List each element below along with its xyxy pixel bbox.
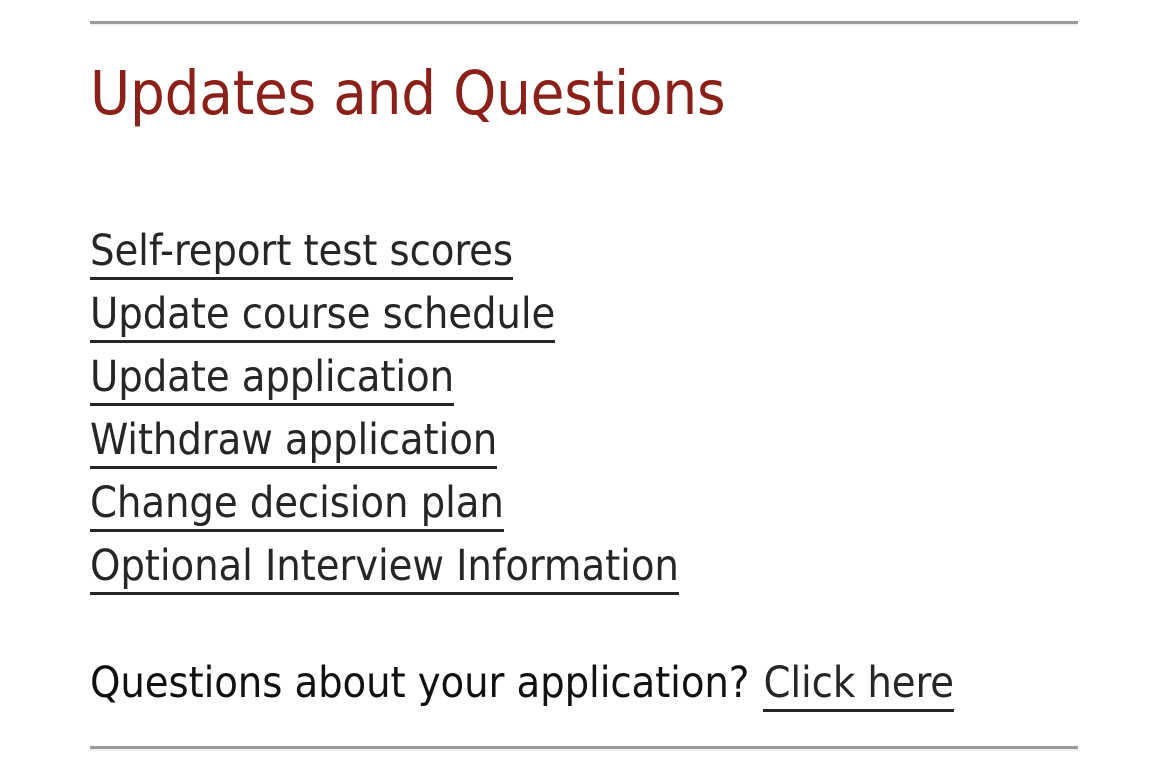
link-update-course-schedule[interactable]: Update course schedule — [90, 289, 555, 343]
list-item: Optional Interview Information — [90, 535, 679, 598]
updates-link-list: Self-report test scores Update course sc… — [90, 220, 679, 598]
list-item: Update course schedule — [90, 283, 679, 346]
link-withdraw-application[interactable]: Withdraw application — [90, 415, 497, 469]
list-item: Change decision plan — [90, 472, 679, 535]
list-item: Self-report test scores — [90, 220, 679, 283]
link-click-here[interactable]: Click here — [763, 658, 954, 712]
question-paragraph: Questions about your application? Click … — [90, 662, 954, 705]
list-item: Withdraw application — [90, 409, 679, 472]
horizontal-rule-top — [90, 21, 1078, 26]
link-update-application[interactable]: Update application — [90, 352, 454, 406]
horizontal-rule-bottom — [90, 746, 1078, 751]
link-optional-interview-information[interactable]: Optional Interview Information — [90, 541, 679, 595]
list-item: Update application — [90, 346, 679, 409]
link-self-report-test-scores[interactable]: Self-report test scores — [90, 226, 513, 280]
link-change-decision-plan[interactable]: Change decision plan — [90, 478, 504, 532]
page-root: Updates and Questions Self-report test s… — [0, 0, 1170, 766]
page-title: Updates and Questions — [90, 62, 725, 127]
question-text: Questions about your application? — [90, 658, 749, 708]
